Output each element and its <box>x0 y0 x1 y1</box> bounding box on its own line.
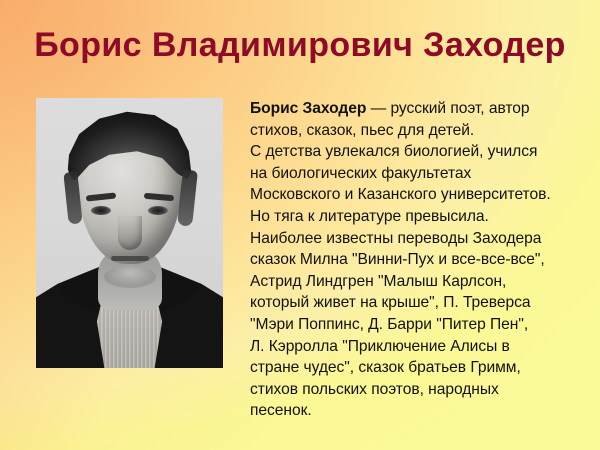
presentation-slide: Борис Владимирович Заходер Борис Заходер… <box>0 0 600 450</box>
photo-nose <box>118 216 142 250</box>
biography-line: стране чудес", сказок братьев Гримм, <box>250 357 594 379</box>
photo-mouth <box>111 256 149 261</box>
biography-line: Московского и Казанского университетов. <box>250 184 594 206</box>
biography-line: Борис Заходер — русский поэт, автор <box>250 98 594 120</box>
biography-line: Л. Кэрролла "Приключение Алисы в <box>250 336 594 358</box>
slide-title: Борис Владимирович Заходер <box>0 26 600 65</box>
biography-line: стихов польских поэтов, народных <box>250 379 594 401</box>
photo-eye-right <box>148 206 168 215</box>
biography-line: Наиболее известны переводы Заходера <box>250 228 594 250</box>
biography-line-text: — русский поэт, автор <box>366 100 529 117</box>
biography-line: песенок. <box>250 400 594 422</box>
photo-chin <box>104 266 156 288</box>
biography-line: который живет на крыше", П. Треверса <box>250 292 594 314</box>
biography-line: "Мэри Поппинс, Д. Барри "Питер Пен", <box>250 314 594 336</box>
biography-line: сказок Милна "Винни-Пух и все-все-все", <box>250 249 594 271</box>
biography-line: стихов, сказок, пьес для детей. <box>250 120 594 142</box>
subject-name: Борис Заходер <box>250 100 366 117</box>
biography-line: Астрид Линдгрен "Малыш Карлсон, <box>250 271 594 293</box>
biography-line: С детства увлекался биологией, учился <box>250 141 594 163</box>
photo-eye-left <box>91 206 111 215</box>
portrait-photo <box>36 98 223 368</box>
biography-line: на биологических факультетах <box>250 163 594 185</box>
biography-text: Борис Заходер — русский поэт, автор стих… <box>250 98 594 422</box>
biography-line: Но тяга к литературе превысила. <box>250 206 594 228</box>
